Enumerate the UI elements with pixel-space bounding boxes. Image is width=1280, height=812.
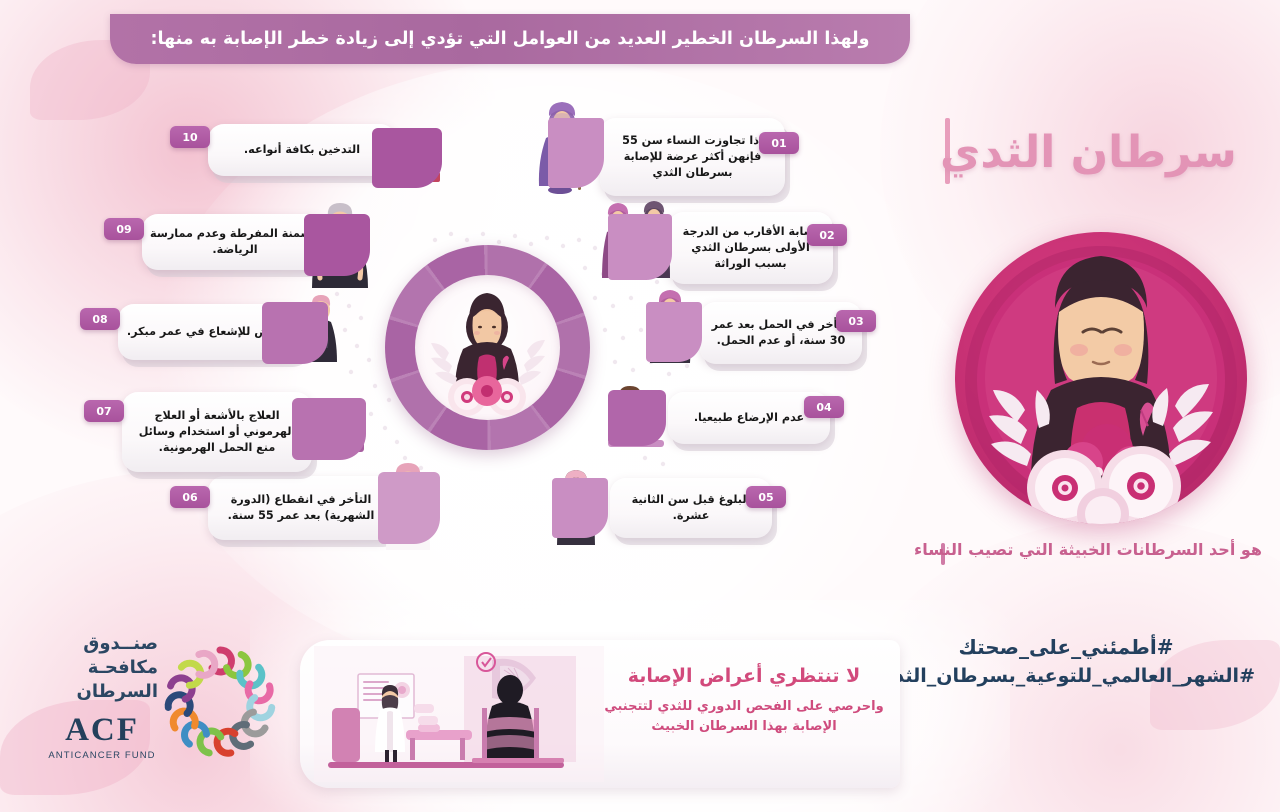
risk-card-text: التأخر في انقطاع (الدورة الشهرية) بعد عم…: [208, 488, 394, 528]
logo-english-name: ANTICANCER FUND: [38, 750, 166, 761]
risk-card-04[interactable]: عدم الإرضاع طبيعيا. 04: [668, 392, 830, 444]
card-body: إذا تجاوزت النساء سن 55 فإنهن أكثر عرضة …: [600, 118, 785, 196]
hashtag-primary: #أطمئني_على_صحتك: [860, 632, 1272, 662]
page-subtitle: هو أحد السرطانات الخبيثة التي تصيب النسا…: [952, 540, 1262, 559]
card-body: التأخر في انقطاع (الدورة الشهرية) بعد عم…: [208, 476, 394, 540]
risk-card-number: 02: [807, 224, 847, 246]
bottom-banner-paragraph: واحرصي على الفحص الدوري للثدي لتتجنبي ال…: [604, 697, 884, 737]
bottom-banner-text: لا تنتظري أعراض الإصابة واحرصي على الفحص…: [604, 664, 884, 737]
risk-card-number: 01: [759, 132, 799, 154]
risk-card-text: العلاج بالأشعة أو العلاج الهرموني أو است…: [122, 404, 312, 460]
logo-arabic-line-1: صنــدوق: [46, 632, 158, 656]
risk-card-number: 07: [84, 400, 124, 422]
risk-card-number: 09: [104, 218, 144, 240]
header-banner-text: ولهذا السرطان الخطير العديد من العوامل ا…: [137, 29, 884, 49]
overweight-woman-icon: [300, 200, 380, 288]
woman-with-calendar-icon: [370, 458, 448, 554]
infographic-canvas: ولهذا السرطان الخطير العديد من العوامل ا…: [0, 0, 1280, 812]
risk-card-number: 03: [836, 310, 876, 332]
page-title: سرطان الثدي: [940, 127, 1237, 178]
main-title-wrapper: سرطان الثدي: [940, 112, 1260, 192]
hero-circle: [955, 232, 1247, 524]
hashtag-secondary: #الشهر_العالمي_للتوعية_بسرطان_الثدي: [860, 662, 1272, 691]
medicine-pills-icon: [288, 392, 372, 470]
risk-card-02[interactable]: إصابة الأقارب من الدرجة الأولى بسرطان ال…: [668, 212, 833, 284]
logo-arabic-line-2: مكافحـة: [46, 656, 158, 680]
breastfeeding-mother-icon: [600, 382, 674, 454]
acf-logo: صنــدوق مكافحـة السرطان ACF ANTICANCER F…: [38, 624, 288, 794]
logo-arabic-name: صنــدوق مكافحـة السرطان: [46, 632, 158, 703]
risk-card-06[interactable]: التأخر في انقطاع (الدورة الشهرية) بعد عم…: [208, 476, 394, 540]
risk-card-01[interactable]: إذا تجاوزت النساء سن 55 فإنهن أكثر عرضة …: [600, 118, 785, 196]
logo-arabic-line-3: السرطان: [46, 680, 158, 704]
risk-card-number: 05: [746, 486, 786, 508]
card-body: إصابة الأقارب من الدرجة الأولى بسرطان ال…: [668, 212, 833, 284]
pregnant-woman-icon: [636, 288, 708, 368]
bottom-banner: لا تنتظري أعراض الإصابة واحرصي على الفحص…: [300, 640, 900, 788]
logo-acronym: ACF: [46, 712, 158, 749]
header-banner: ولهذا السرطان الخطير العديد من العوامل ا…: [110, 14, 910, 64]
bottom-banner-heading: لا تنتظري أعراض الإصابة: [604, 664, 884, 690]
hub-woman-flowers-icon: [415, 275, 560, 420]
risk-card-text: إذا تجاوزت النساء سن 55 فإنهن أكثر عرضة …: [600, 129, 785, 185]
hero-woman-flowers-icon: [955, 232, 1247, 524]
risk-card-number: 06: [170, 486, 210, 508]
smoking-cigarette-icon: [368, 122, 448, 198]
risk-card-number: 08: [80, 308, 120, 330]
hashtag-block: #أطمئني_على_صحتك #الشهر_العالمي_للتوعية_…: [860, 632, 1272, 691]
card-body: العلاج بالأشعة أو العلاج الهرموني أو است…: [122, 392, 312, 472]
risk-card-05[interactable]: البلوغ قبل سن الثانية عشرة. 05: [610, 478, 772, 538]
radiation-hazard-icon: [258, 292, 340, 374]
young-girl-icon: [542, 466, 614, 548]
family-group-icon: [596, 198, 678, 286]
colored-ribbon-circle-icon: [150, 632, 290, 772]
risk-card-03[interactable]: التأخر في الحمل بعد عمر 30 سنة، أو عدم ا…: [700, 302, 862, 364]
clinic-screening-scene-illustration: [314, 646, 604, 782]
elderly-woman-with-cane-icon: [528, 100, 606, 196]
risk-card-number: 10: [170, 126, 210, 148]
risk-card-07[interactable]: العلاج بالأشعة أو العلاج الهرموني أو است…: [122, 392, 312, 472]
center-hub: [385, 245, 590, 450]
risk-card-number: 04: [804, 396, 844, 418]
hub-inner-circle: [415, 275, 560, 420]
